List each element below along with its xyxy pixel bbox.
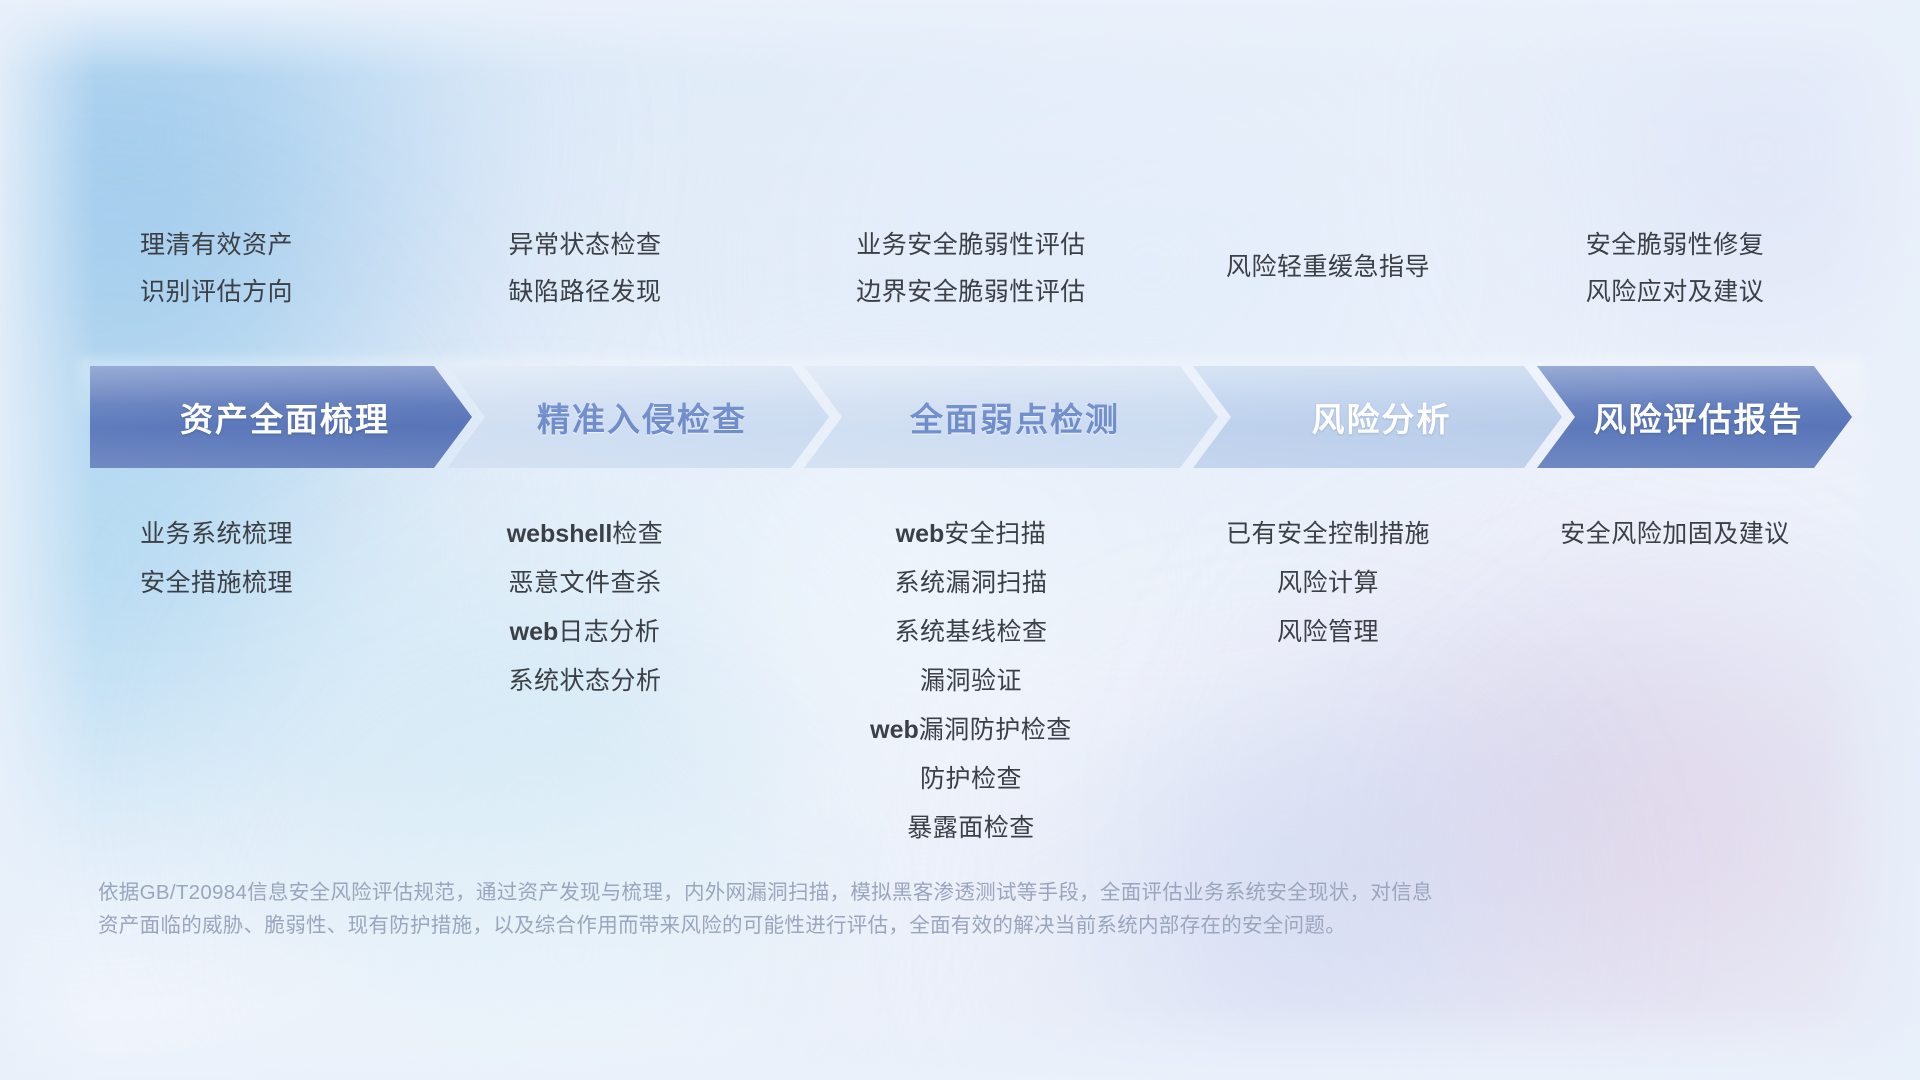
list-item-suffix: 安全扫描 xyxy=(944,520,1046,548)
stage-chevron-asset-inventory[interactable]: 资产全面梳理 xyxy=(90,366,472,468)
stage-title: 精准入侵检查 xyxy=(537,393,747,441)
list-item: web日志分析 xyxy=(420,608,750,657)
list-item: webshell检查 xyxy=(420,510,750,559)
process-diagram: 理清有效资产 识别评估方向 异常状态检查 缺陷路径发现 业务安全脆弱性评估 边界… xyxy=(0,0,1920,1080)
stage-chevron-risk-analysis[interactable]: 风险分析 xyxy=(1193,366,1562,468)
list-item: 风险管理 xyxy=(1118,608,1538,657)
top-labels-row: 理清有效资产 识别评估方向 异常状态检查 缺陷路径发现 业务安全脆弱性评估 边界… xyxy=(0,222,1920,342)
footnote-line-1: 依据GB/T20984信息安全风险评估规范，通过资产发现与梳理，内外网漏洞扫描，… xyxy=(98,876,1618,909)
stage-chevron-weakness-detection[interactable]: 全面弱点检测 xyxy=(804,366,1218,468)
list-item: web漏洞防护检查 xyxy=(761,706,1181,755)
top-label: 缺陷路径发现 xyxy=(420,269,750,316)
top-label: 风险应对及建议 xyxy=(1490,269,1860,316)
list-item: 防护检查 xyxy=(761,755,1181,804)
list-item: 已有安全控制措施 xyxy=(1118,510,1538,559)
stage-title: 资产全面梳理 xyxy=(180,393,390,441)
bottom-list-risk-analysis: 已有安全控制措施 风险计算 风险管理 xyxy=(1118,510,1538,657)
footnote: 依据GB/T20984信息安全风险评估规范，通过资产发现与梳理，内外网漏洞扫描，… xyxy=(98,876,1618,942)
stage-band: 资产全面梳理 精准入侵检查 全面弱点检测 风险分析 风险评估报告 xyxy=(90,366,1852,468)
list-item: 安全风险加固及建议 xyxy=(1490,510,1860,559)
top-label: 安全脆弱性修复 xyxy=(1490,222,1860,269)
bottom-list-intrusion-check: webshell检查 恶意文件查杀 web日志分析 系统状态分析 xyxy=(420,510,750,706)
top-label: 风险轻重缓急指导 xyxy=(1118,244,1538,291)
footnote-line-2: 资产面临的威胁、脆弱性、现有防护措施，以及综合作用而带来风险的可能性进行评估，全… xyxy=(98,909,1618,942)
stage-chevron-intrusion-check[interactable]: 精准入侵检查 xyxy=(447,366,829,468)
stage-title: 风险分析 xyxy=(1312,393,1452,441)
list-item: 恶意文件查杀 xyxy=(420,559,750,608)
bottom-list-risk-report: 安全风险加固及建议 xyxy=(1490,510,1860,559)
stage-chevron-risk-report[interactable]: 风险评估报告 xyxy=(1537,366,1852,468)
list-item: 漏洞验证 xyxy=(761,657,1181,706)
top-label: 异常状态检查 xyxy=(420,222,750,269)
list-item-suffix: 漏洞防护检查 xyxy=(919,716,1072,744)
list-item: 系统状态分析 xyxy=(420,657,750,706)
top-labels-intrusion-check: 异常状态检查 缺陷路径发现 xyxy=(420,222,750,316)
list-item-suffix: 检查 xyxy=(612,520,663,548)
list-item: 暴露面检查 xyxy=(761,804,1181,853)
stage-title: 全面弱点检测 xyxy=(910,393,1120,441)
top-labels-risk-analysis: 风险轻重缓急指导 xyxy=(1118,244,1538,291)
list-item-suffix: 日志分析 xyxy=(558,618,660,646)
list-item: 风险计算 xyxy=(1118,559,1538,608)
stage-title: 风险评估报告 xyxy=(1594,393,1804,441)
top-labels-risk-report: 安全脆弱性修复 风险应对及建议 xyxy=(1490,222,1860,316)
